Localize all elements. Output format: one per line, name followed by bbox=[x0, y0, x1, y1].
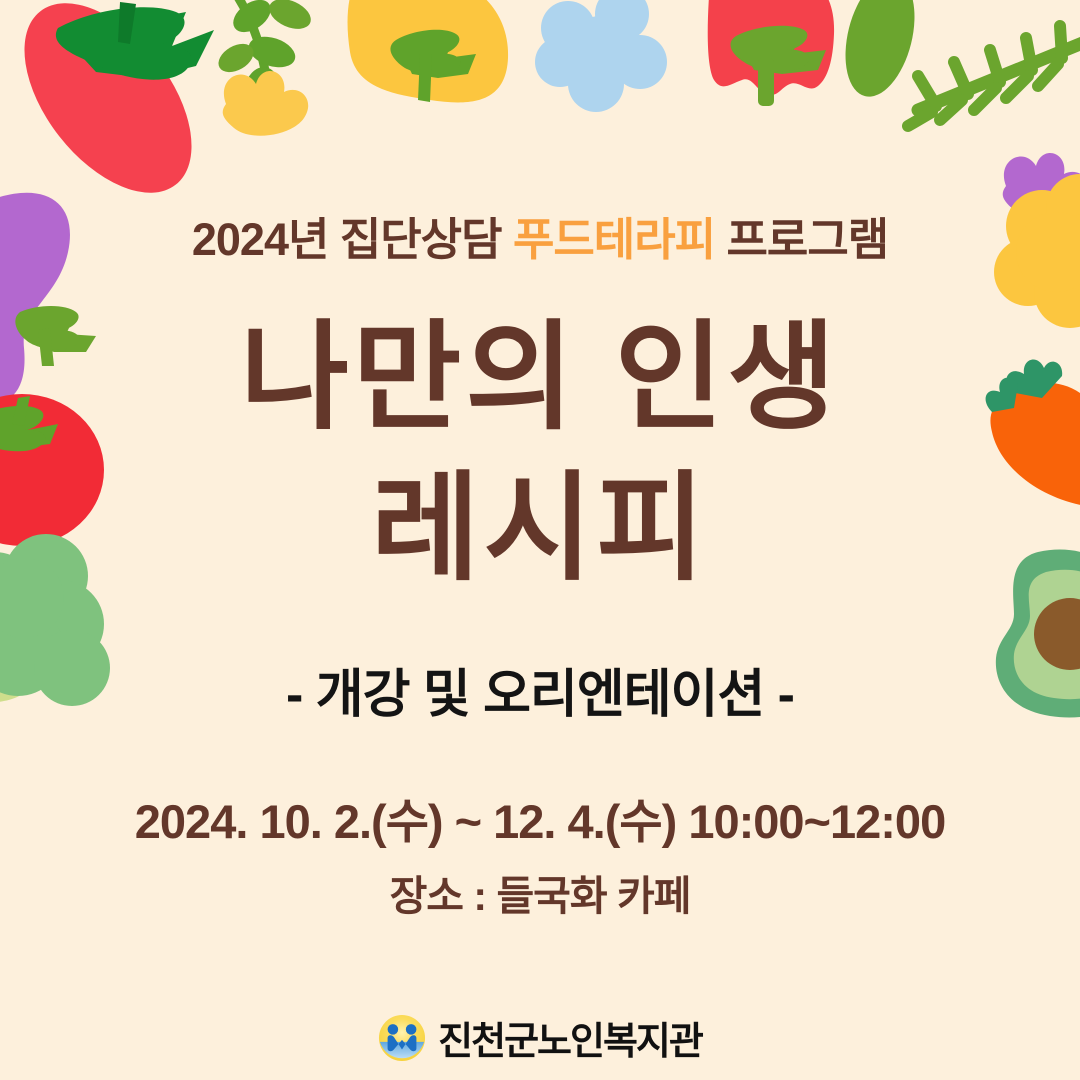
place-line: 장소 : 들국화 카페 bbox=[0, 862, 1080, 922]
section-heading: - 개강 및 오리엔테이션 - bbox=[0, 652, 1080, 727]
jincheon-senior-welfare-center-logo-icon bbox=[378, 1014, 426, 1062]
main-title-line-2: 레시피 bbox=[0, 454, 1080, 605]
organization-name: 진천군노인복지관 bbox=[438, 1010, 702, 1065]
main-title-line-1: 나만의 인생 bbox=[0, 303, 1080, 454]
subtitle-suffix: 프로그램 bbox=[715, 214, 888, 265]
footer: 진천군노인복지관 bbox=[0, 1010, 1080, 1065]
date-time-line: 2024. 10. 2.(수) ~ 12. 4.(수) 10:00~12:00 bbox=[0, 783, 1080, 852]
main-title: 나만의 인생 레시피 bbox=[0, 303, 1080, 605]
poster-content: 2024년 집단상담 푸드테라피 프로그램 나만의 인생 레시피 - 개강 및 … bbox=[0, 0, 1080, 1080]
subtitle-prefix: 2024년 집단상담 bbox=[192, 214, 513, 265]
program-subtitle: 2024년 집단상담 푸드테라피 프로그램 bbox=[0, 203, 1080, 268]
subtitle-accent: 푸드테라피 bbox=[513, 214, 715, 265]
poster-canvas: 2024년 집단상담 푸드테라피 프로그램 나만의 인생 레시피 - 개강 및 … bbox=[0, 0, 1080, 1080]
